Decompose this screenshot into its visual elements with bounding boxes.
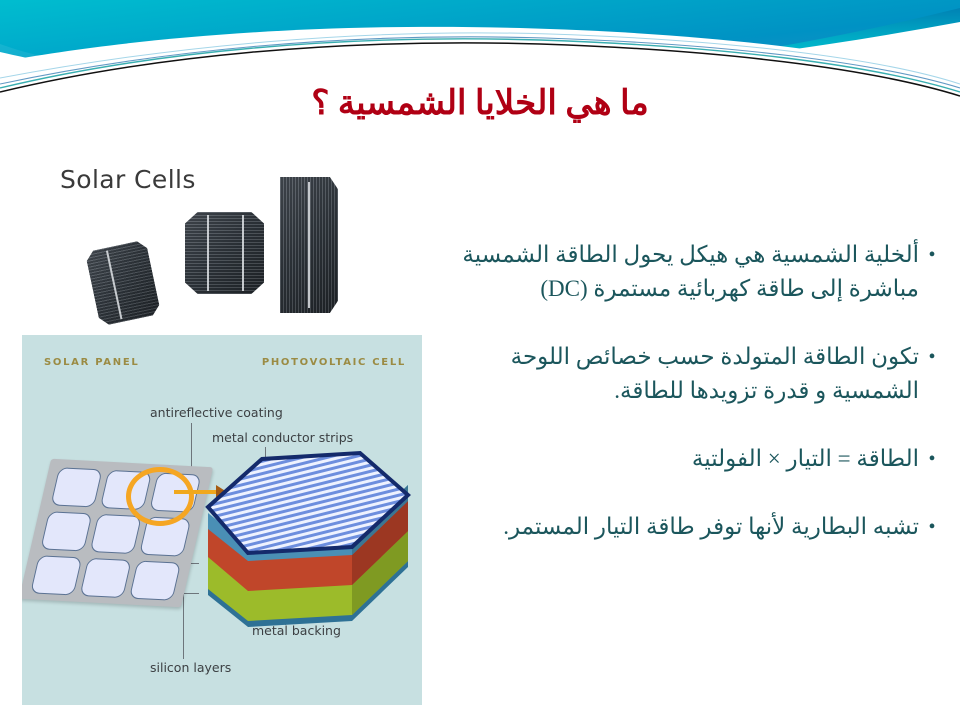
bullet-marker-icon: •: [919, 442, 945, 476]
bullet-marker-icon: •: [919, 510, 945, 544]
panel-grid-cell: [40, 511, 92, 551]
bullet-text: تكون الطاقة المتولدة حسب خصائص اللوحة ال…: [430, 340, 919, 408]
panel-grid-cell: [129, 560, 181, 600]
cell-stack-graphic: [200, 435, 415, 645]
diagram-label-antireflective-coating: antireflective coating: [150, 405, 283, 420]
panel-grid-cell: [79, 558, 131, 598]
bullet-text: الطاقة = التيار × الفولتية: [430, 442, 919, 476]
bullet-list: • ألخلية الشمسية هي هيكل يحول الطاقة الش…: [430, 238, 945, 578]
highlight-ring-callout: [126, 467, 194, 526]
bullet-item-definition: • ألخلية الشمسية هي هيكل يحول الطاقة الش…: [430, 238, 945, 306]
busbar-line: [242, 215, 244, 290]
photovoltaic-cell-stack: [200, 435, 415, 645]
solar-cell-medium: [185, 212, 264, 294]
leader-tick-silicon-bottom: [183, 593, 199, 594]
diagram-heading-solar-panel: SOLAR PANEL: [44, 357, 139, 368]
solar-cells-caption: Solar Cells: [60, 165, 196, 194]
slide-canvas: ما هي الخلايا الشمسية ؟ Solar Cells SOLA…: [0, 0, 960, 720]
busbar-line: [308, 182, 310, 307]
solar-cell-small: [85, 239, 161, 326]
diagram-label-silicon-layers: silicon layers: [150, 660, 231, 675]
bullet-marker-icon: •: [919, 238, 945, 272]
bullet-text: ألخلية الشمسية هي هيكل يحول الطاقة الشمس…: [430, 238, 919, 306]
solar-cell-large: [280, 177, 338, 313]
busbar-line: [106, 250, 122, 319]
bullet-item-battery-analogy: • تشبه البطارية لأنها توفر طاقة التيار ا…: [430, 510, 945, 544]
panel-grid-cell: [50, 467, 102, 507]
panel-grid-cell: [30, 555, 82, 595]
page-title: ما هي الخلايا الشمسية ؟: [0, 84, 960, 123]
solar-cells-figure: Solar Cells: [52, 155, 424, 331]
bullet-item-power-formula: • الطاقة = التيار × الفولتية: [430, 442, 945, 476]
bullet-text: تشبه البطارية لأنها توفر طاقة التيار الم…: [430, 510, 919, 544]
busbar-line: [207, 215, 209, 290]
diagram-heading-photovoltaic-cell: PHOTOVOLTAIC CELL: [262, 357, 406, 368]
bullet-marker-icon: •: [919, 340, 945, 374]
panel-grid-cell: [90, 514, 142, 554]
bullet-item-output-power: • تكون الطاقة المتولدة حسب خصائص اللوحة …: [430, 340, 945, 408]
photovoltaic-diagram: SOLAR PANEL PHOTOVOLTAIC CELL antireflec…: [22, 335, 422, 705]
